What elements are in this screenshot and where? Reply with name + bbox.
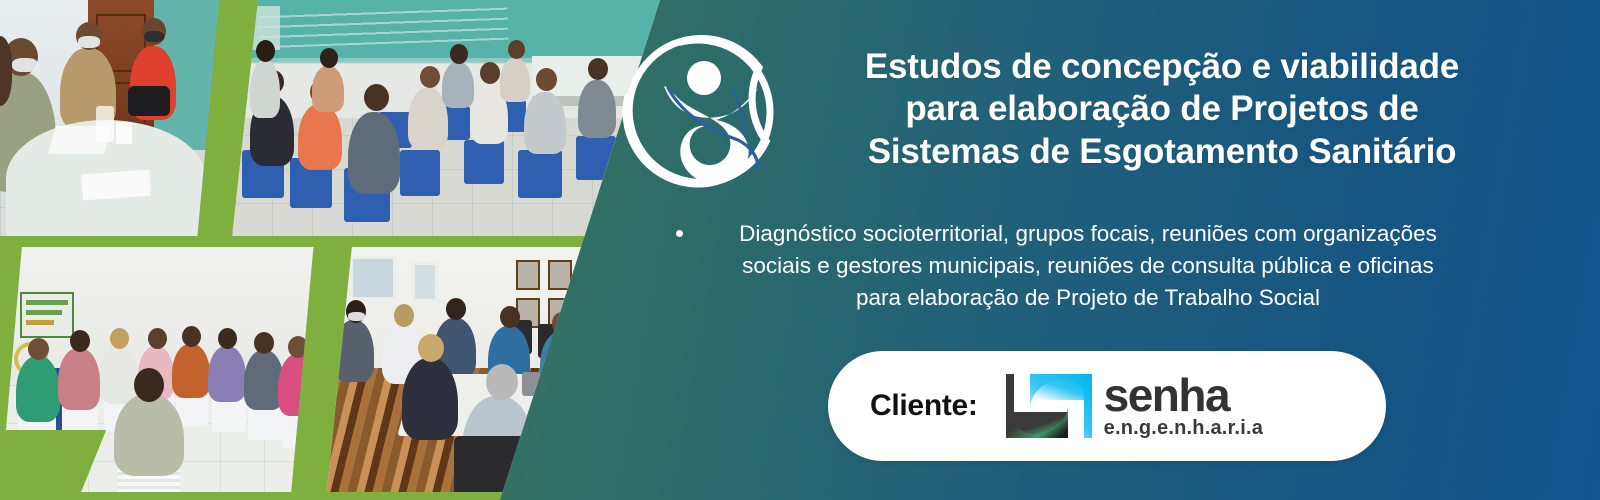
headline-line-1: Estudos de concepção e viabilidade xyxy=(812,46,1512,88)
headline-line-3: Sistemas de Esgotamento Sanitário xyxy=(812,131,1512,173)
photo-top-left xyxy=(0,0,228,238)
description-list: Diagnóstico socioterritorial, grupos foc… xyxy=(660,218,1516,315)
bullet-line-1: Diagnóstico socioterritorial, grupos foc… xyxy=(660,218,1516,250)
institutional-logo xyxy=(612,28,798,194)
headline-line-2: para elaboração de Projetos de xyxy=(812,88,1512,130)
client-label: Cliente: xyxy=(870,389,978,423)
senha-wordmark: senha xyxy=(1104,374,1263,416)
senha-tagline: e.n.g.e.n.h.a.r.i.a xyxy=(1104,418,1263,438)
senha-logo: senha e.n.g.e.n.h.a.r.i.a xyxy=(1000,370,1263,442)
bullet-icon xyxy=(676,230,683,237)
bullet-line-3: para elaboração de Projeto de Trabalho S… xyxy=(660,282,1516,314)
client-card: Cliente: xyxy=(828,351,1386,461)
list-item: Diagnóstico socioterritorial, grupos foc… xyxy=(660,218,1516,315)
senha-mark-icon xyxy=(1000,370,1096,442)
promotional-banner: Estudos de concepção e viabilidade para … xyxy=(0,0,1600,500)
page-title: Estudos de concepção e viabilidade para … xyxy=(812,46,1512,173)
bullet-line-2: sociais e gestores municipais, reuniões … xyxy=(660,250,1516,282)
